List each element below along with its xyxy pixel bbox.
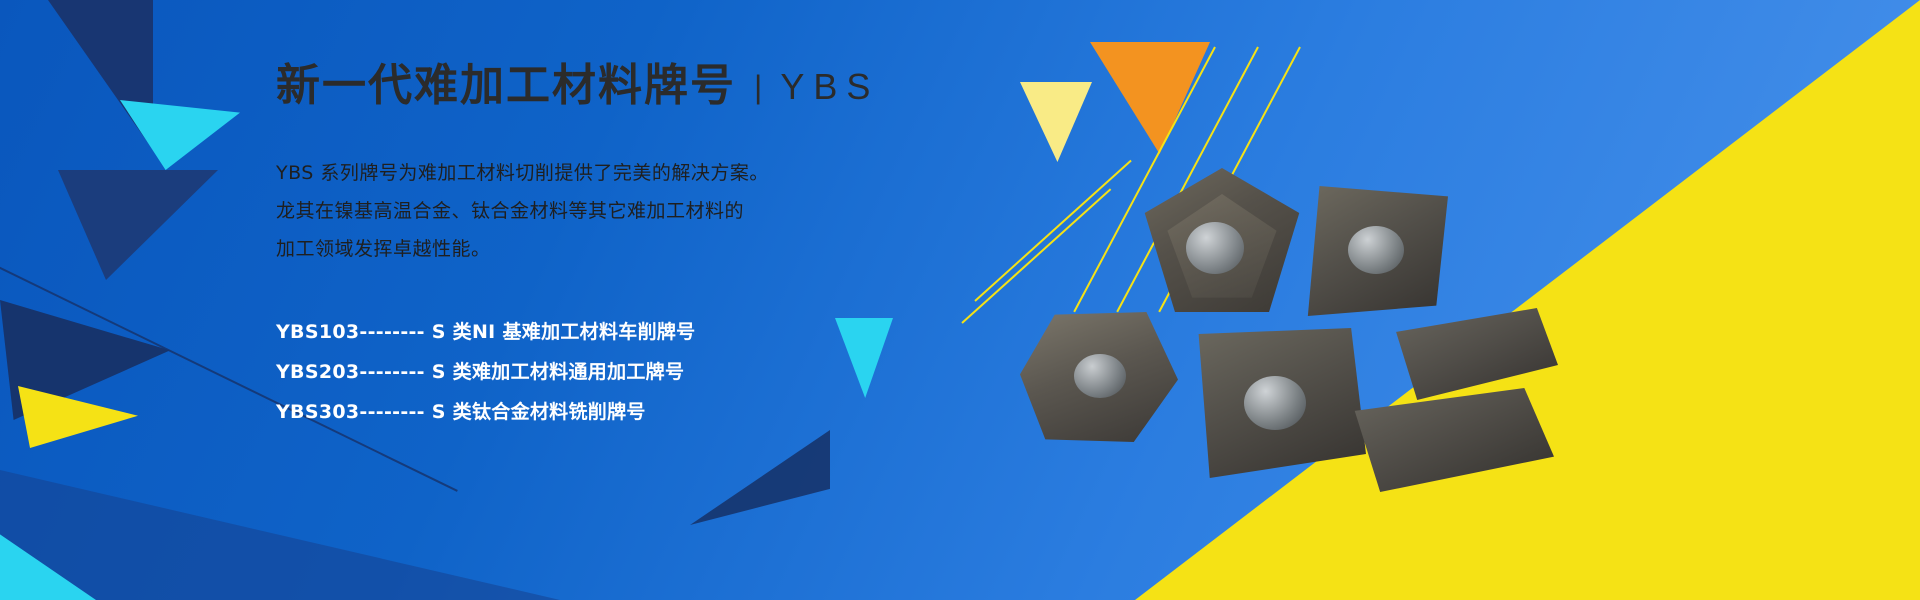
- description-line: YBS 系列牌号为难加工材料切削提供了完美的解决方案。: [276, 154, 996, 192]
- description-line: 加工领域发挥卓越性能。: [276, 230, 996, 268]
- product-code-item: YBS303-------- S 类钛合金材料铣削牌号: [276, 392, 996, 432]
- decorative-triangle-navy-top: [48, 0, 153, 150]
- title-chinese: 新一代难加工材料牌号: [276, 62, 736, 110]
- description-line: 龙其在镍基高温合金、钛合金材料等其它难加工材料的: [276, 192, 996, 230]
- bar-insert-lower: [1342, 388, 1554, 492]
- square-insert-hole: [1348, 226, 1404, 274]
- banner-title: 新一代难加工材料牌号 | YBS: [276, 62, 996, 110]
- pentagon-insert-hole: [1074, 354, 1126, 398]
- title-separator: |: [754, 69, 762, 110]
- promo-banner: 新一代难加工材料牌号 | YBS YBS 系列牌号为难加工材料切削提供了完美的解…: [0, 0, 1920, 600]
- banner-content: 新一代难加工材料牌号 | YBS YBS 系列牌号为难加工材料切削提供了完美的解…: [276, 62, 996, 432]
- product-code-list: YBS103-------- S 类NI 基难加工材料车削牌号 YBS203--…: [276, 312, 996, 432]
- product-code-item: YBS203-------- S 类难加工材料通用加工牌号: [276, 352, 996, 392]
- title-english: YBS: [780, 66, 879, 110]
- product-image-group: [990, 150, 1550, 530]
- large-square-insert-hole: [1244, 376, 1306, 430]
- product-code-item: YBS103-------- S 类NI 基难加工材料车削牌号: [276, 312, 996, 352]
- trigon-insert-hole: [1186, 222, 1244, 274]
- bar-insert-upper: [1382, 308, 1558, 400]
- banner-description: YBS 系列牌号为难加工材料切削提供了完美的解决方案。 龙其在镍基高温合金、钛合…: [276, 154, 996, 268]
